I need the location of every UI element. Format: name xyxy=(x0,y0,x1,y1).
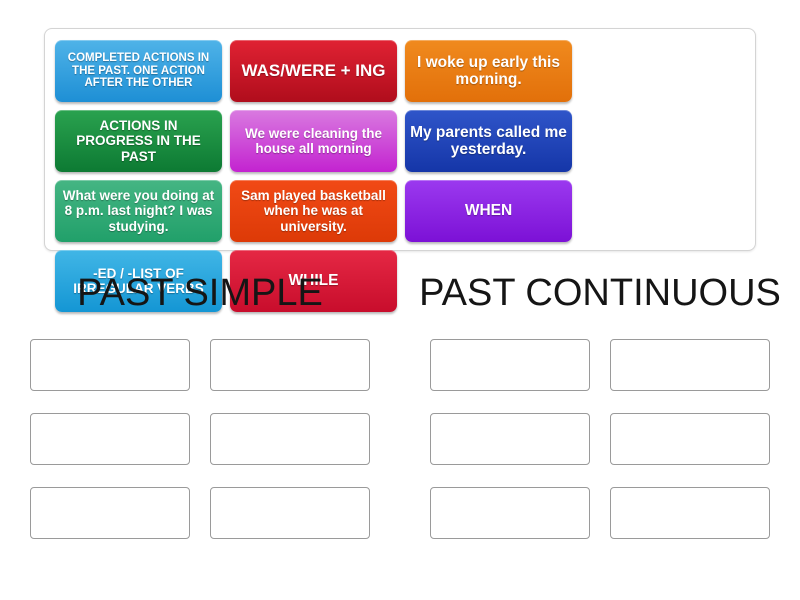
column-past-continuous: PAST CONTINUOUS xyxy=(400,272,800,561)
column-title: PAST CONTINUOUS xyxy=(419,272,781,315)
drop-slot[interactable] xyxy=(210,487,370,539)
drop-slot-grid xyxy=(400,339,800,561)
draggable-tile[interactable]: WAS/WERE + ING xyxy=(230,40,397,102)
tile-label: We were cleaning the house all morning xyxy=(235,126,392,156)
draggable-tile[interactable]: I woke up early this morning. xyxy=(405,40,572,102)
draggable-tile[interactable]: Sam played basketball when he was at uni… xyxy=(230,180,397,242)
category-columns: PAST SIMPLEPAST CONTINUOUS xyxy=(0,272,800,561)
tile-label: What were you doing at 8 p.m. last night… xyxy=(60,188,217,233)
tile-label: WAS/WERE + ING xyxy=(241,61,385,80)
draggable-tile[interactable]: We were cleaning the house all morning xyxy=(230,110,397,172)
draggable-tile[interactable]: WHEN xyxy=(405,180,572,242)
tile-label: My parents called me yesterday. xyxy=(410,124,567,159)
drop-slot[interactable] xyxy=(430,413,590,465)
drop-slot[interactable] xyxy=(430,339,590,391)
drop-slot[interactable] xyxy=(430,487,590,539)
drop-slot[interactable] xyxy=(210,339,370,391)
draggable-tile[interactable]: COMPLETED ACTIONS IN THE PAST. ONE ACTIO… xyxy=(55,40,222,102)
tile-label: Sam played basketball when he was at uni… xyxy=(235,188,392,233)
draggable-tile[interactable]: My parents called me yesterday. xyxy=(405,110,572,172)
draggable-tiles-tray: COMPLETED ACTIONS IN THE PAST. ONE ACTIO… xyxy=(44,28,756,251)
drop-slot[interactable] xyxy=(610,339,770,391)
draggable-tile[interactable]: ACTIONS IN PROGRESS IN THE PAST xyxy=(55,110,222,172)
drop-slot[interactable] xyxy=(610,413,770,465)
drop-slot[interactable] xyxy=(30,487,190,539)
draggable-tile[interactable]: What were you doing at 8 p.m. last night… xyxy=(55,180,222,242)
drop-slot[interactable] xyxy=(30,413,190,465)
drop-slot[interactable] xyxy=(610,487,770,539)
drop-slot[interactable] xyxy=(210,413,370,465)
tile-label: WHEN xyxy=(465,202,512,219)
tile-label: ACTIONS IN PROGRESS IN THE PAST xyxy=(60,118,217,163)
drop-slot-grid xyxy=(0,339,400,561)
drop-slot[interactable] xyxy=(30,339,190,391)
column-title: PAST SIMPLE xyxy=(77,272,323,315)
tile-label: I woke up early this morning. xyxy=(410,54,567,89)
column-past-simple: PAST SIMPLE xyxy=(0,272,400,561)
tile-label: COMPLETED ACTIONS IN THE PAST. ONE ACTIO… xyxy=(60,52,217,91)
